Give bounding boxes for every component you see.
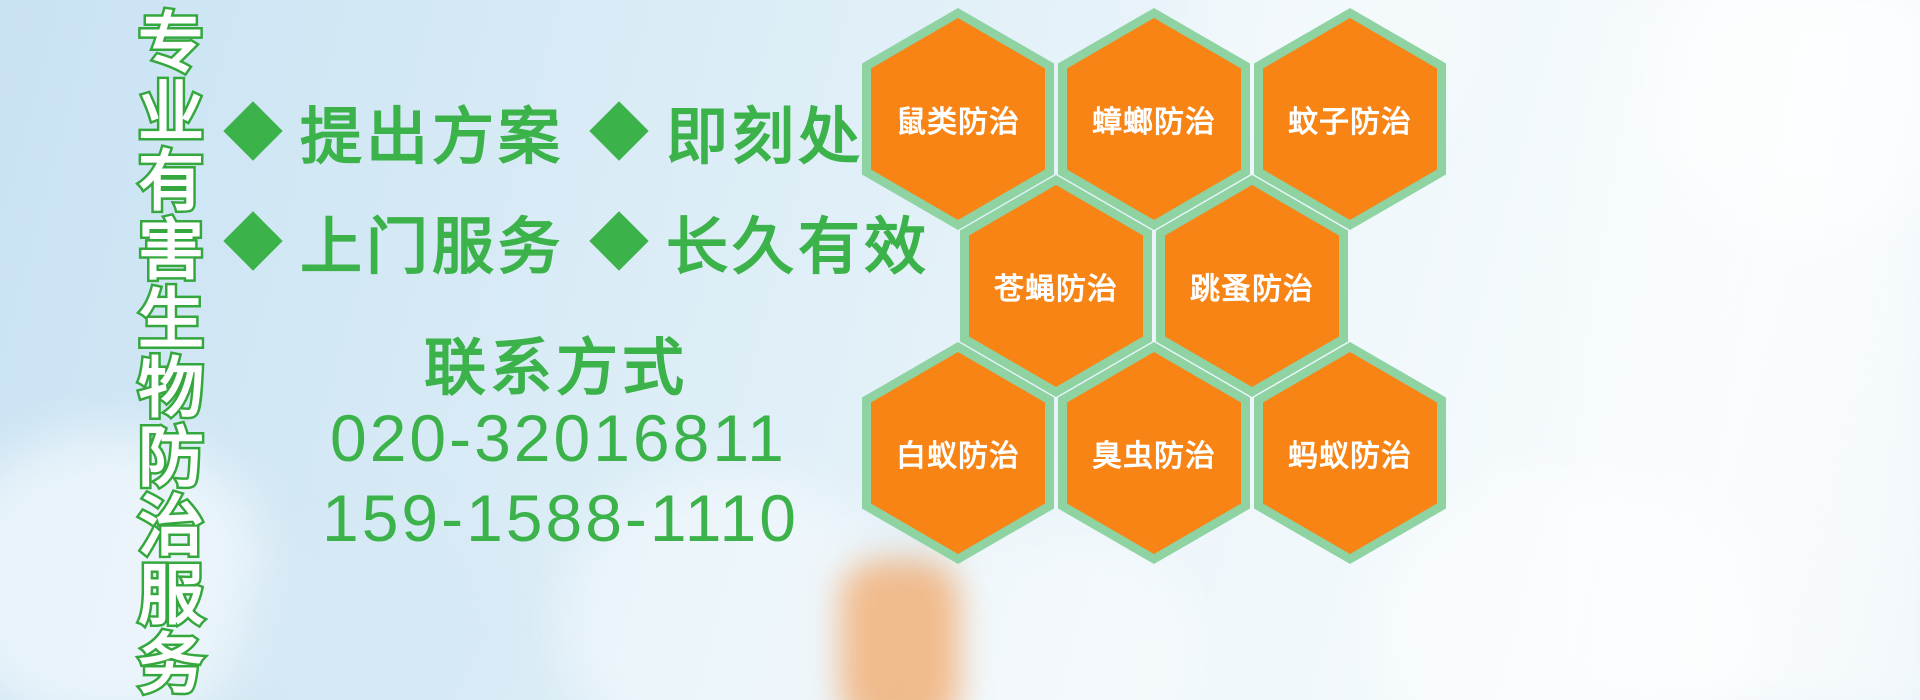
hex-label-fly: 苍蝇防治 <box>994 264 1118 308</box>
hex-label-mosquito: 蚊子防治 <box>1288 97 1412 141</box>
hex-label-bedbug: 臭虫防治 <box>1092 431 1216 475</box>
hex-inner-fill: 鼠类防治 <box>871 18 1045 220</box>
vertical-service-title: 专业有害生物防治服务 <box>104 8 200 568</box>
feature-row-bottom: 上门服务 长久有效 <box>232 196 930 286</box>
hex-inner-fill: 蟑螂防治 <box>1067 18 1241 220</box>
pest-control-banner: 专业有害生物防治服务 提出方案 即刻处理 上门服务 长久有效 联系方式 020-… <box>0 0 1920 700</box>
contact-heading: 联系方式 <box>424 317 688 407</box>
hex-inner-fill: 跳蚤防治 <box>1165 185 1339 387</box>
hex-label-cockroach: 蟑螂防治 <box>1092 97 1216 141</box>
hex-label-rodent: 鼠类防治 <box>896 97 1020 141</box>
contact-phone-landline[interactable]: 020-32016811 <box>330 400 787 476</box>
service-honeycomb: 鼠类防治 蟑螂防治 蚊子防治 苍蝇防治 跳蚤防治 白蚁防治 <box>862 0 1462 700</box>
diamond-bullet-icon <box>223 211 282 270</box>
hex-inner-fill: 蚊子防治 <box>1263 18 1437 220</box>
diamond-bullet-icon <box>589 101 648 160</box>
background-light-streak <box>1560 0 1920 700</box>
feature-label-onsite-service: 上门服务 <box>300 196 564 286</box>
hex-label-flea: 跳蚤防治 <box>1190 264 1314 308</box>
feature-label-propose-plan: 提出方案 <box>300 86 564 176</box>
background-bokeh <box>1650 0 1920 240</box>
diamond-bullet-icon <box>223 101 282 160</box>
hex-label-ant: 蚂蚁防治 <box>1288 431 1412 475</box>
hex-inner-fill: 白蚁防治 <box>871 352 1045 554</box>
contact-phone-mobile[interactable]: 159-1588-1110 <box>322 480 799 556</box>
hex-inner-fill: 蚂蚁防治 <box>1263 352 1437 554</box>
hex-label-termite: 白蚁防治 <box>896 431 1020 475</box>
hex-inner-fill: 臭虫防治 <box>1067 352 1241 554</box>
diamond-bullet-icon <box>589 211 648 270</box>
hex-inner-fill: 苍蝇防治 <box>969 185 1143 387</box>
feature-row-top: 提出方案 即刻处理 <box>232 86 930 176</box>
